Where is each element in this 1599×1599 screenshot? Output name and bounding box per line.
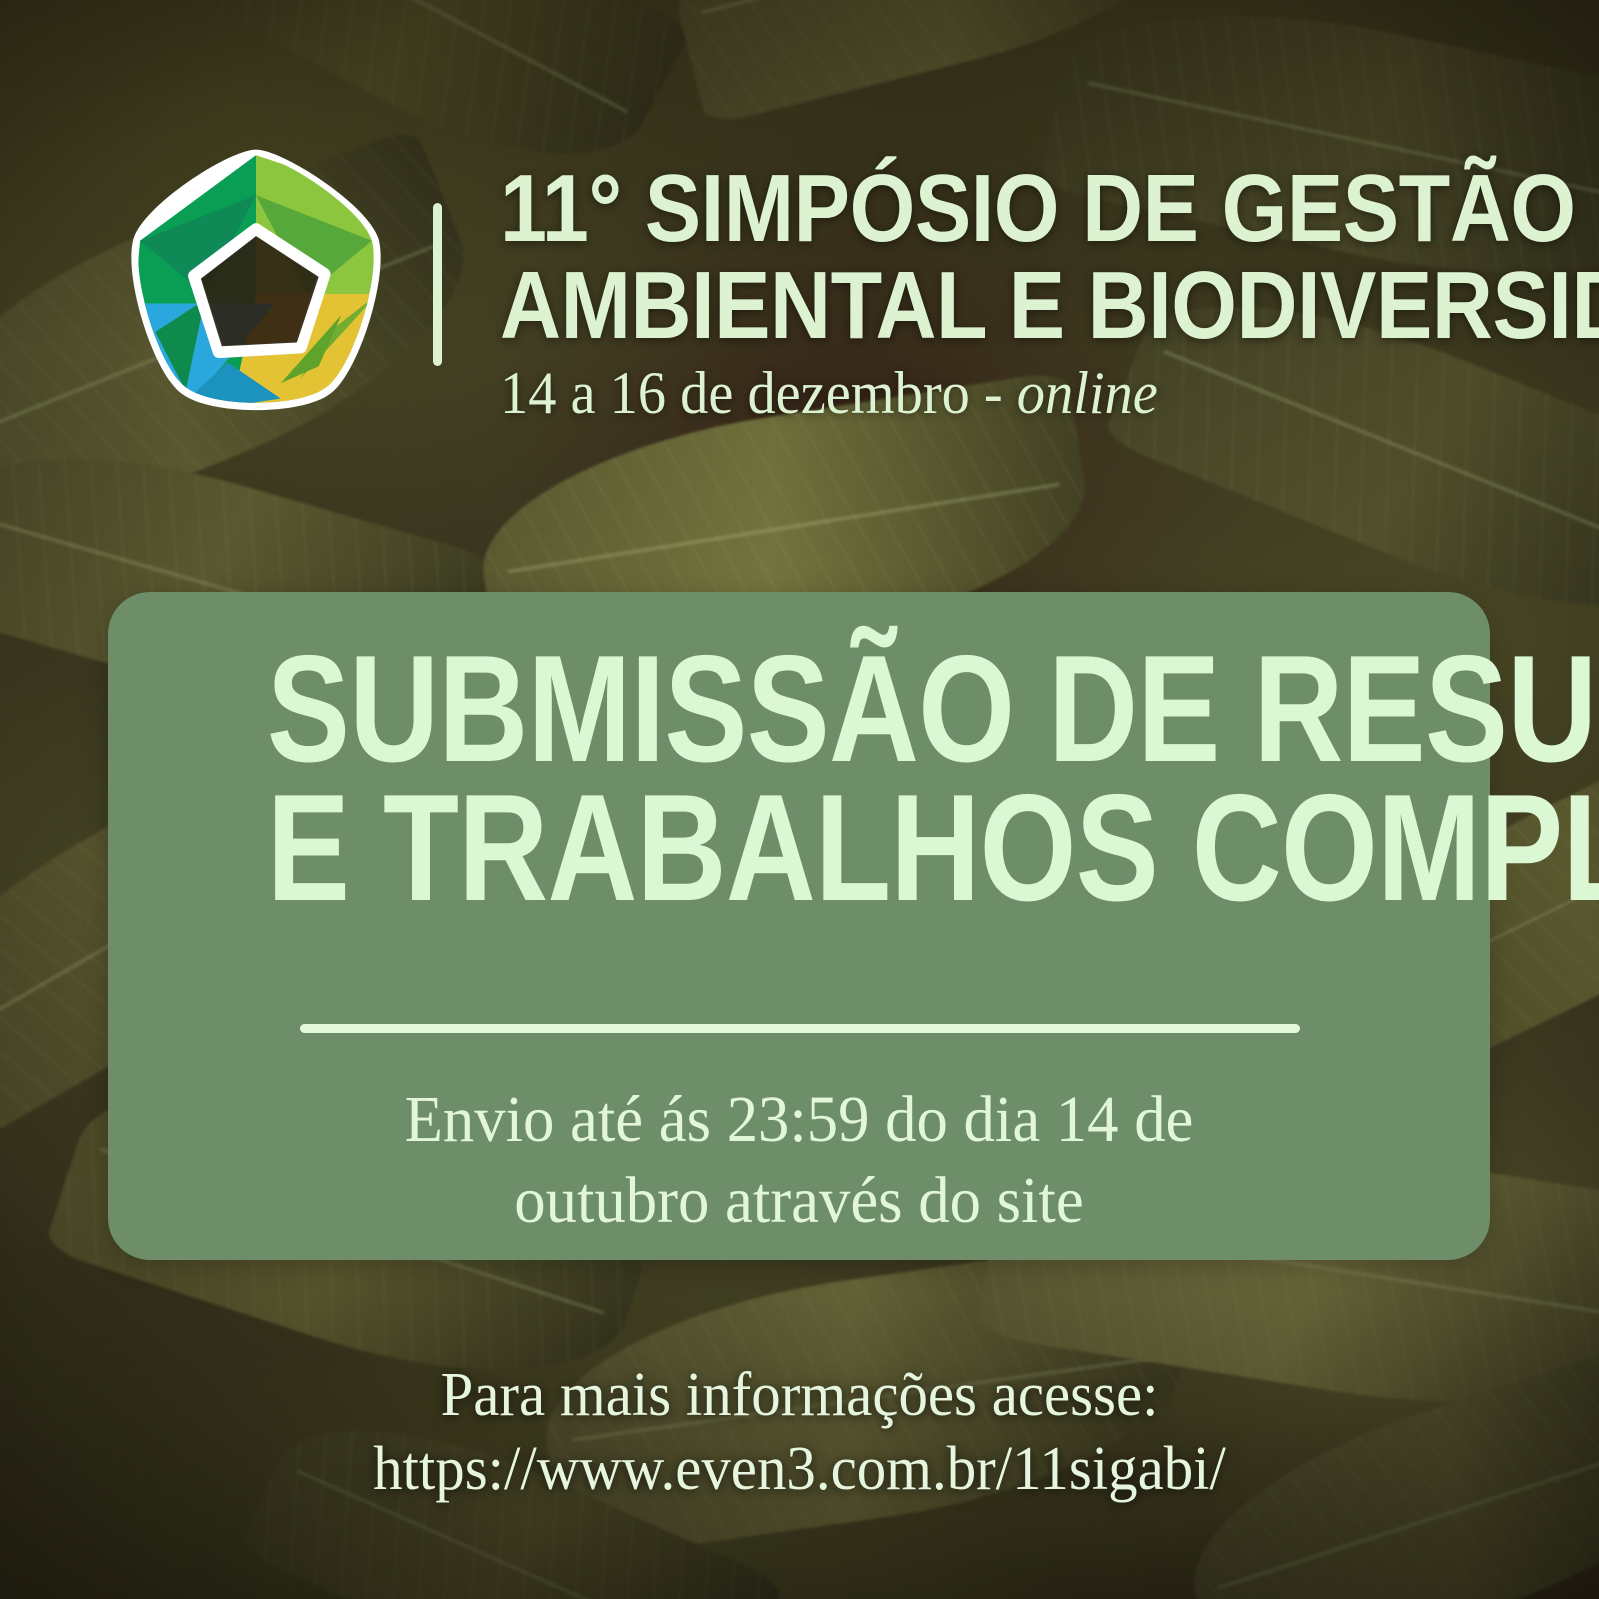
header-text-block: 11° SIMPÓSIO DE GESTÃO AMBIENTAL E BIODI…: [500, 162, 1489, 425]
sigabi-pentagon-logo: [112, 142, 400, 427]
event-format-label: online: [1017, 360, 1158, 426]
announcement-panel: SUBMISSÃO DE RESUMOS E TRABALHOS COMPLET…: [108, 592, 1490, 1260]
panel-divider: [300, 1024, 1300, 1033]
panel-heading-line-2: E TRABALHOS COMPLETOS: [267, 777, 1331, 920]
footer-info-label: Para mais informações acesse:: [40, 1358, 1559, 1432]
panel-heading-line-1: SUBMISSÃO DE RESUMOS: [267, 638, 1331, 781]
footer: Para mais informações acesse: https://ww…: [0, 1358, 1599, 1507]
poster-root: 11° SIMPÓSIO DE GESTÃO AMBIENTAL E BIODI…: [0, 0, 1599, 1599]
event-dates: 14 a 16 de dezembro - online: [500, 362, 1430, 425]
header-divider-bar: [433, 203, 442, 366]
deadline-line-1: Envio até ás 23:59 do dia 14 de: [219, 1080, 1380, 1161]
event-title-line-2: AMBIENTAL E BIODIVERSIDADE: [500, 259, 1370, 352]
panel-heading: SUBMISSÃO DE RESUMOS E TRABALHOS COMPLET…: [150, 638, 1448, 920]
deadline-line-2: outubro através do site: [219, 1161, 1380, 1242]
footer-website-url[interactable]: https://www.even3.com.br/11sigabi/: [40, 1432, 1559, 1506]
header: 11° SIMPÓSIO DE GESTÃO AMBIENTAL E BIODI…: [0, 120, 1599, 450]
event-dates-text: 14 a 16 de dezembro -: [500, 360, 1017, 426]
panel-body-text: Envio até ás 23:59 do dia 14 de outubro …: [219, 1080, 1380, 1241]
event-title-line-1: 11° SIMPÓSIO DE GESTÃO: [500, 162, 1370, 255]
